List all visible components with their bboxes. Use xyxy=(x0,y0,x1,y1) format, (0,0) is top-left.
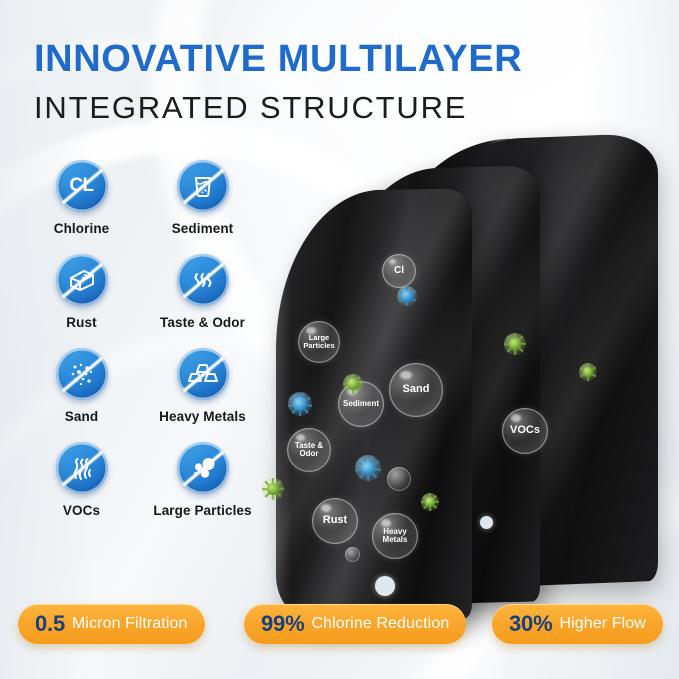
feature-item-vocs: VOCs xyxy=(24,442,139,534)
feature-item-sediment: Sediment xyxy=(145,160,260,252)
sediment-glass-icon xyxy=(177,160,229,212)
chlorine-cl-icon: CL xyxy=(56,160,108,212)
feature-label: Large Particles xyxy=(153,503,251,518)
feature-label: Heavy Metals xyxy=(159,409,246,424)
stat-value: 0.5 xyxy=(35,611,65,637)
bubble-heavy-metals: Heavy Metals xyxy=(372,513,418,559)
feature-item-large-particles: Large Particles xyxy=(145,442,260,534)
microbe-green xyxy=(421,493,439,511)
microbe-blue xyxy=(288,392,312,416)
stat-label: Micron Filtration xyxy=(72,615,188,633)
stat-label: Chlorine Reduction xyxy=(311,615,449,633)
microbe-green xyxy=(262,478,284,500)
microbe-green xyxy=(504,333,526,355)
feature-label: VOCs xyxy=(63,503,100,518)
feature-list: CL Chlorine Sediment xyxy=(24,160,260,534)
stat-label: Higher Flow xyxy=(559,615,645,633)
stat-badge-row: 0.5 Micron Filtration 99% Chlorine Reduc… xyxy=(0,600,679,648)
infographic-canvas: INNOVATIVE MULTILAYER INTEGRATED STRUCTU… xyxy=(0,0,679,679)
heading-block: INNOVATIVE MULTILAYER INTEGRATED STRUCTU… xyxy=(34,40,522,123)
bubble-vocs: VOCs xyxy=(502,408,548,454)
rust-pipe-icon xyxy=(56,254,108,306)
microbe-blue xyxy=(397,286,417,306)
bubble-plain xyxy=(387,467,411,491)
page-subtitle: INTEGRATED STRUCTURE xyxy=(34,92,522,123)
stat-value: 99% xyxy=(261,611,304,637)
droplet xyxy=(375,576,395,596)
feature-label: Taste & Odor xyxy=(160,315,245,330)
stat-value: 30% xyxy=(509,611,552,637)
heavy-metals-ingots-icon xyxy=(177,348,229,400)
taste-odor-waves-icon xyxy=(177,254,229,306)
stat-badge-micron-filtration[interactable]: 0.5 Micron Filtration xyxy=(18,604,205,644)
stat-badge-chlorine-reduction[interactable]: 99% Chlorine Reduction xyxy=(244,604,466,644)
large-particles-icon xyxy=(177,442,229,494)
bubble-taste-odor: Taste & Odor xyxy=(287,428,331,472)
feature-item-taste-odor: Taste & Odor xyxy=(145,254,260,346)
vocs-vapor-icon xyxy=(56,442,108,494)
multilayer-filter-sheets: Large Particles Sediment Sand Taste & Od… xyxy=(262,128,679,608)
feature-item-chlorine: CL Chlorine xyxy=(24,160,139,252)
microbe-blue xyxy=(355,455,381,481)
feature-label: Rust xyxy=(66,315,96,330)
sand-dots-icon xyxy=(56,348,108,400)
stat-badge-higher-flow[interactable]: 30% Higher Flow xyxy=(492,604,663,644)
feature-label: Sand xyxy=(65,409,98,424)
bubble-large-particles: Large Particles xyxy=(298,321,340,363)
bubble-chlorine: Cl xyxy=(382,254,416,288)
feature-item-rust: Rust xyxy=(24,254,139,346)
microbe-green xyxy=(343,374,363,394)
page-title: INNOVATIVE MULTILAYER xyxy=(34,40,522,78)
feature-item-sand: Sand xyxy=(24,348,139,440)
droplet xyxy=(480,516,493,529)
bubble-rust: Rust xyxy=(312,498,358,544)
microbe-green xyxy=(579,363,597,381)
bubble-plain xyxy=(345,547,360,562)
feature-item-heavy-metals: Heavy Metals xyxy=(145,348,260,440)
feature-label: Chlorine xyxy=(54,221,110,236)
feature-label: Sediment xyxy=(172,221,234,236)
bubble-sand: Sand xyxy=(389,363,443,417)
